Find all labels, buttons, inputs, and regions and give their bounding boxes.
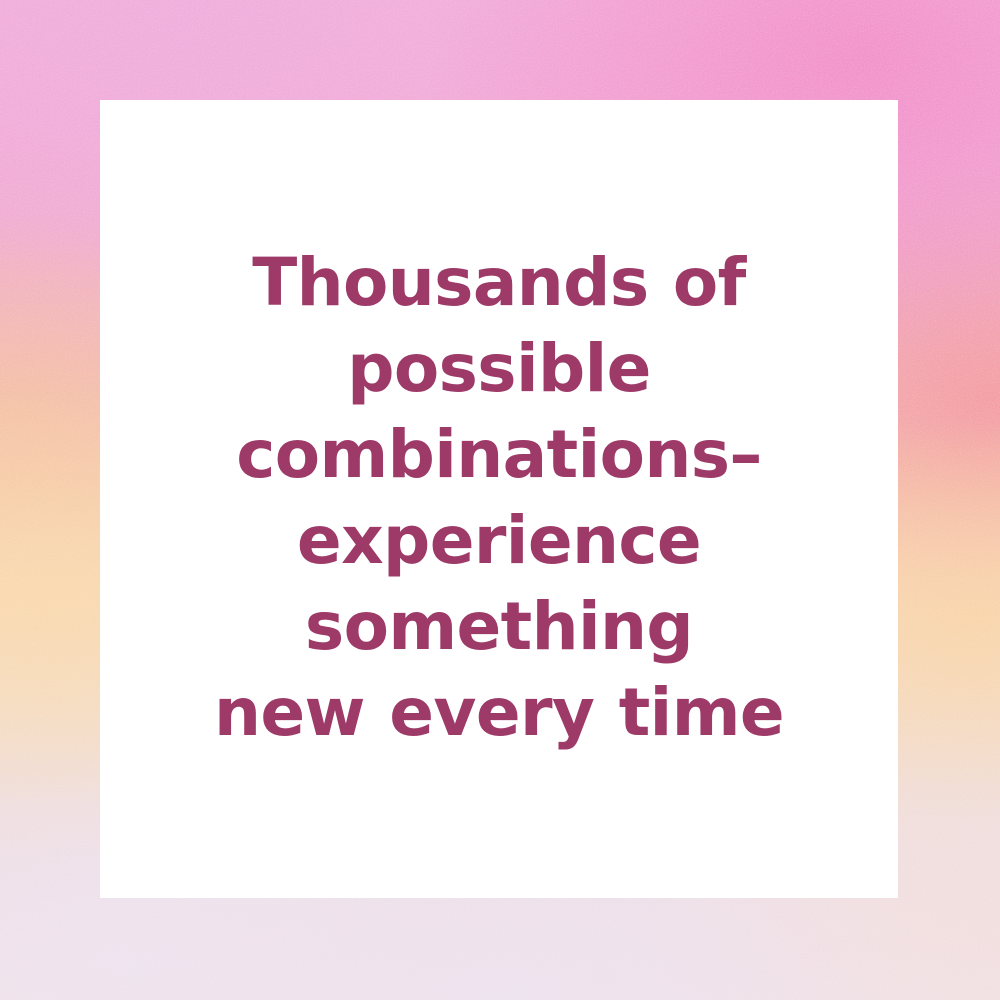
content-card: Thousands of possible combinations– expe…	[100, 100, 898, 898]
headline-text: Thousands of possible combinations– expe…	[129, 240, 869, 756]
